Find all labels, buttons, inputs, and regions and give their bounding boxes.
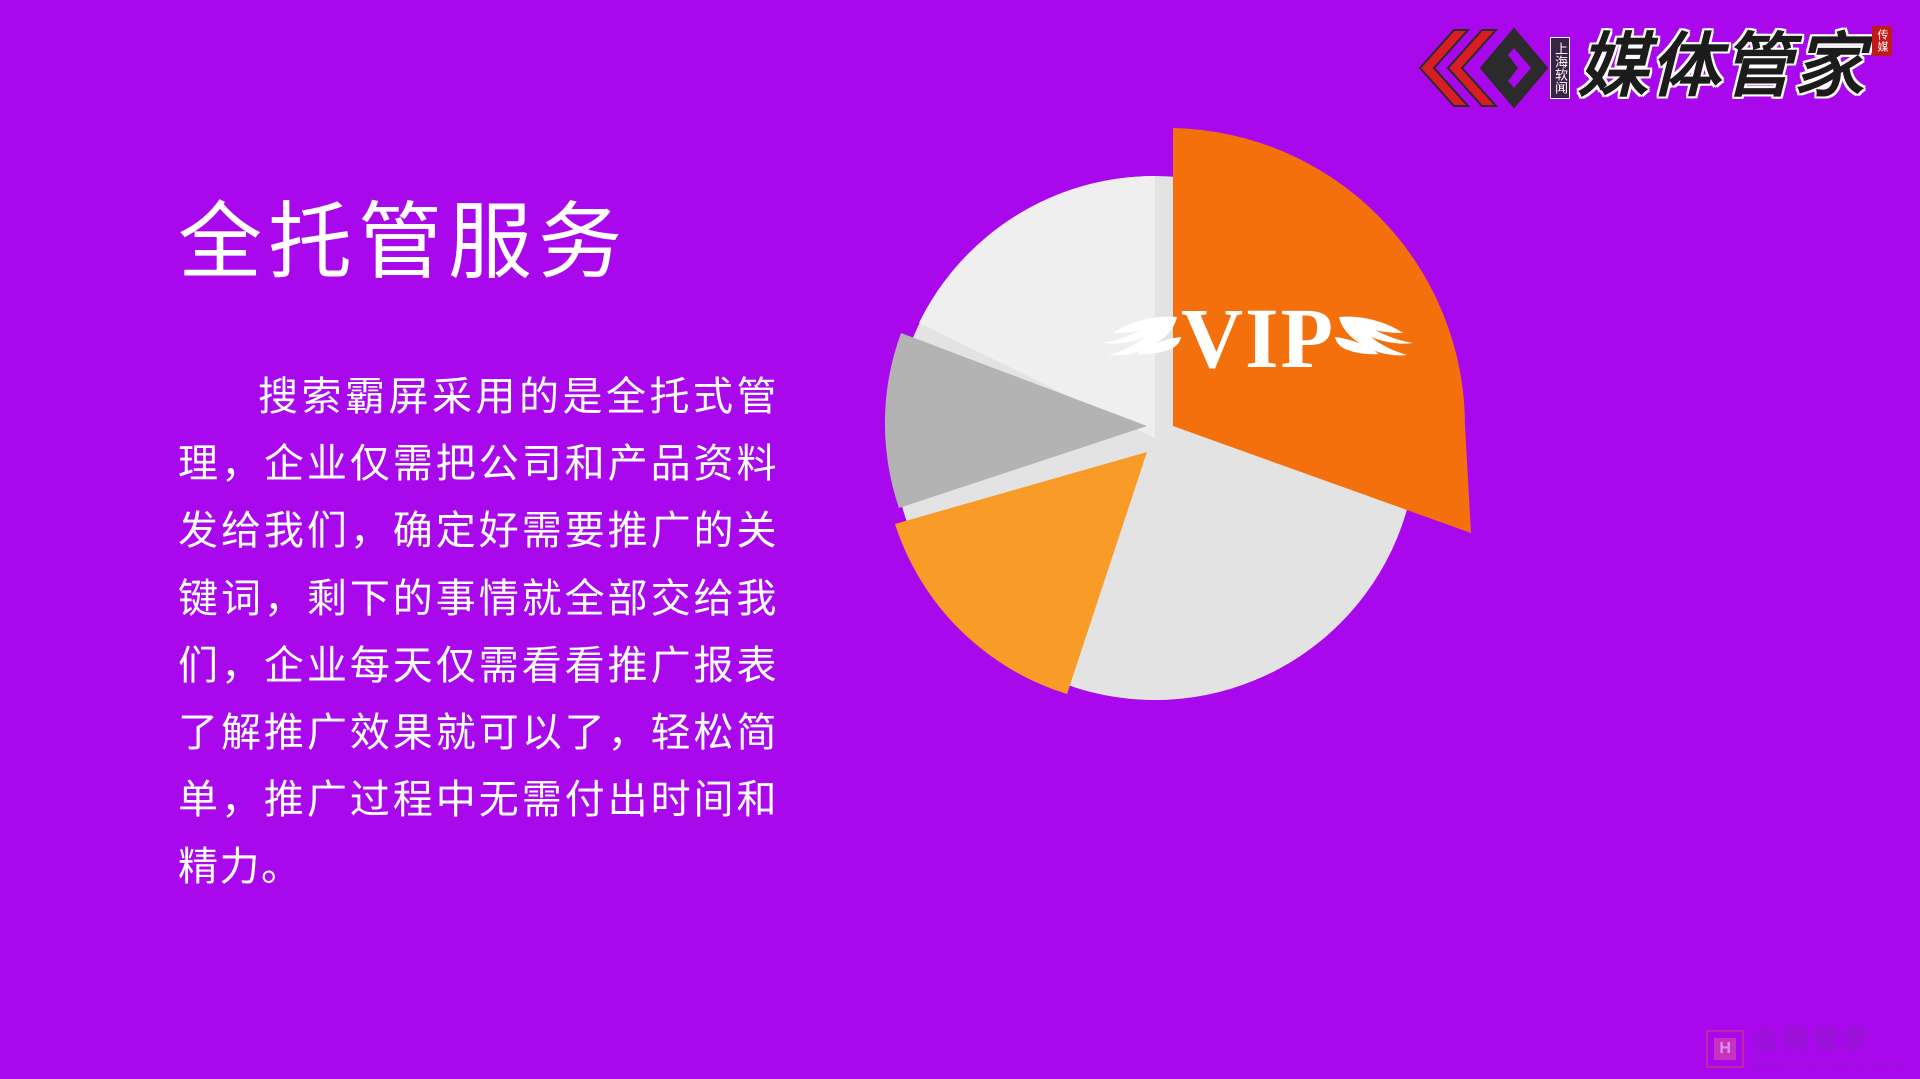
watermark-url: www.huizhans.com <box>1752 1057 1904 1071</box>
body-paragraph: 搜索霸屏采用的是全托式管理，企业仅需把公司和产品资料发给我们，确定好需要推广的关… <box>178 364 778 902</box>
title-block: 全托管服务 <box>178 196 878 288</box>
page-title: 全托管服务 <box>178 196 878 288</box>
brand-stamp: 上海软闻 <box>1550 37 1570 99</box>
body-block: 搜索霸屏采用的是全托式管理，企业仅需把公司和产品资料发给我们，确定好需要推广的关… <box>178 364 778 902</box>
brand-seal: 传媒 <box>1872 26 1892 56</box>
watermark-texts: 会展管家 www.huizhans.com <box>1752 1027 1904 1071</box>
brand-name: 媒体管家 <box>1578 33 1866 103</box>
watermark-badge-letter: H <box>1714 1038 1736 1060</box>
watermark-badge-icon: H <box>1706 1030 1744 1068</box>
watermark: H 会展管家 www.huizhans.com <box>1706 1027 1904 1071</box>
watermark-name: 会展管家 <box>1752 1027 1904 1054</box>
logo-mark-icon <box>1416 26 1548 110</box>
vip-pie-graphic <box>855 108 1475 758</box>
brand-logo: 上海软闻 媒体管家 传媒 <box>1416 22 1892 114</box>
slide-canvas: 上海软闻 媒体管家 传媒 VIP <box>0 0 1920 1079</box>
